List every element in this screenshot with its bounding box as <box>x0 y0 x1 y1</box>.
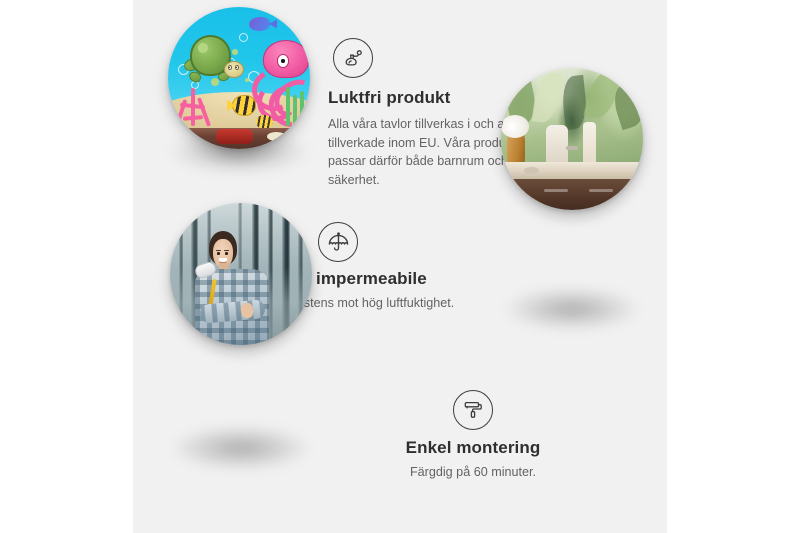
feature-image-bathroom <box>501 68 643 210</box>
wood-vanity-cabinet <box>501 179 643 210</box>
pink-coral <box>174 88 217 133</box>
feature-image-woman-paint-roller <box>170 203 312 345</box>
seagrass <box>284 87 304 127</box>
screenshot-stage: Luktfri produkt Alla våra tavlor tillver… <box>0 0 800 533</box>
vanity-countertop <box>501 162 643 179</box>
feature-image-underwater-scene <box>168 7 310 149</box>
feature-text-easy-mounting: Enkel montering Färgdig på 60 minuter. <box>323 390 623 482</box>
no-spray-bottle-icon <box>333 38 373 78</box>
bathroom-mirror <box>546 125 567 165</box>
photo-shadow-3 <box>169 425 313 471</box>
feature-body: Färgdig på 60 minuter. <box>323 463 623 482</box>
content-panel: Luktfri produkt Alla våra tavlor tillver… <box>133 0 667 533</box>
small-purple-fish <box>249 17 270 31</box>
bathroom-bottle <box>583 122 596 165</box>
shipwreck-foreground <box>168 128 310 149</box>
photo-shadow-2 <box>502 287 642 331</box>
feature-title: Enkel montering <box>323 437 623 458</box>
sea-turtle <box>186 35 243 88</box>
white-flowers <box>501 115 529 138</box>
paint-roller-icon <box>453 390 493 430</box>
striped-fish <box>232 95 256 116</box>
bathroom-faucet <box>566 146 577 150</box>
umbrella-icon <box>318 222 358 262</box>
woman-figure <box>190 231 278 345</box>
